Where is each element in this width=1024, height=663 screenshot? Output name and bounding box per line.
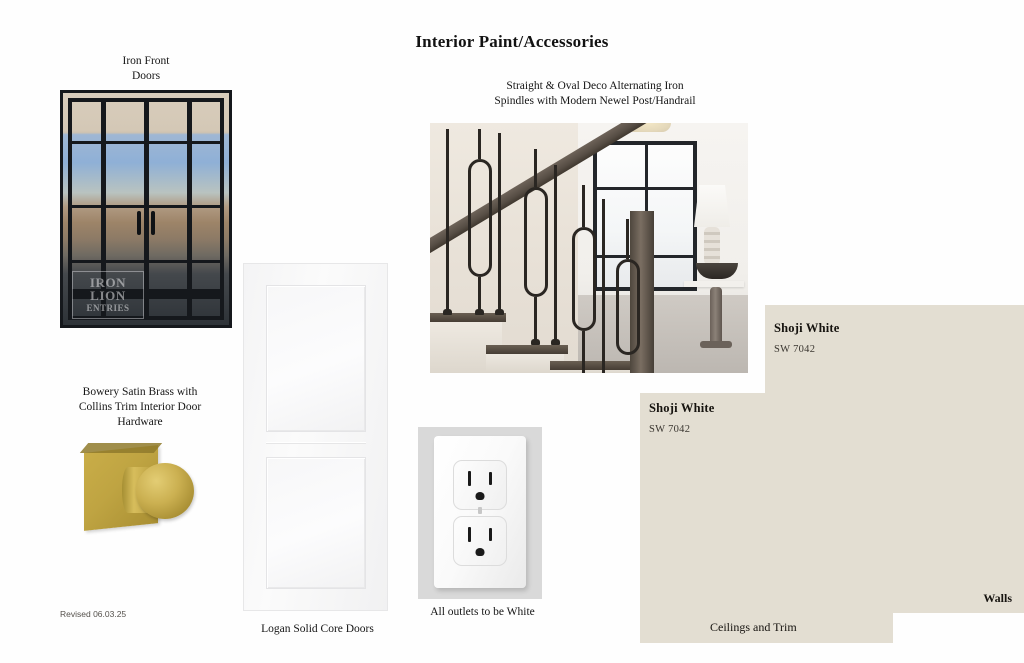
door-handle-right — [151, 211, 155, 235]
door-rail-top — [72, 141, 220, 144]
iron-front-doors-photo: IRON LION ENTRIES — [60, 90, 232, 328]
oval-deco-spindle — [524, 187, 548, 297]
outlet-slot-neutral — [468, 527, 471, 542]
logan-door-photo — [243, 263, 388, 611]
stair-tread-3 — [550, 361, 634, 370]
outlet-ground-pin — [476, 492, 485, 500]
walls-usage-label: Walls — [983, 591, 1012, 606]
receptacle-upper — [453, 460, 507, 510]
door-handle-left — [137, 211, 141, 235]
spindle-shoe — [551, 339, 560, 345]
console-table-pedestal — [710, 287, 722, 345]
door-hardware-photo — [78, 437, 202, 549]
page-title: Interior Paint/Accessories — [0, 32, 1024, 52]
spindle-shoe — [531, 339, 540, 345]
watermark-line-2: LION — [90, 288, 126, 303]
rosette-bevel — [80, 443, 162, 453]
watermark-line-3: ENTRIES — [73, 302, 143, 315]
spindle-shoe — [495, 309, 504, 315]
oval-spindle-lower-stem — [582, 331, 585, 373]
straight-spindle — [554, 165, 557, 343]
outlet-center-screw — [478, 507, 482, 514]
brass-knob — [136, 463, 194, 519]
table-lamp-shade — [694, 185, 730, 227]
oval-deco-spindle — [572, 227, 596, 331]
spindle-shoe — [475, 309, 484, 315]
walls-paint-code: SW 7042 — [774, 344, 815, 355]
stair-tread-2 — [486, 345, 568, 354]
receptacle-lower — [453, 516, 507, 566]
iron-doors-caption: Iron Front Doors — [60, 54, 232, 84]
oval-spindle-upper-stem — [478, 129, 481, 159]
revision-note: Revised 06.03.25 — [60, 609, 126, 619]
straight-spindle — [498, 133, 501, 315]
oval-spindle-lower-stem — [478, 277, 481, 311]
table-lamp-base — [704, 227, 720, 265]
oval-deco-spindle — [468, 159, 492, 277]
door-panel-top — [266, 285, 366, 432]
outlet-ground-pin — [476, 548, 485, 556]
ceilings-paint-code: SW 7042 — [649, 424, 690, 435]
door-hardware-caption: Bowery Satin Brass with Collins Trim Int… — [55, 385, 225, 430]
straight-spindle — [446, 129, 449, 315]
console-table-foot — [700, 341, 732, 348]
door-rail-mid — [72, 205, 220, 208]
paint-swatch-ceilings-trim: Shoji White SW 7042 Ceilings and Trim — [640, 393, 893, 643]
oval-spindle-upper-stem — [626, 219, 629, 259]
door-center-stile — [144, 102, 149, 316]
logan-door-caption: Logan Solid Core Doors — [235, 622, 400, 637]
stair-railing-caption: Straight & Oval Deco Alternating Iron Sp… — [480, 79, 710, 109]
outlet-slot-hot — [489, 528, 492, 541]
electrical-outlet-photo — [418, 427, 542, 599]
spindle-shoe — [443, 309, 452, 315]
oval-deco-spindle — [616, 259, 640, 355]
iron-lion-watermark: IRON LION ENTRIES — [72, 271, 144, 319]
door-rail-lower — [72, 260, 220, 263]
outlet-slot-hot — [489, 472, 492, 485]
stair-railing-photo — [430, 123, 748, 373]
door-middle-rail — [266, 442, 366, 443]
design-board: Interior Paint/Accessories Iron Front Do… — [0, 0, 1024, 663]
outlet-caption: All outlets to be White — [400, 605, 565, 620]
door-panel-bottom — [266, 457, 366, 589]
straight-spindle — [602, 199, 605, 373]
door-mullion-right — [187, 102, 192, 316]
outlet-slot-neutral — [468, 471, 471, 486]
oval-spindle-lower-stem — [534, 297, 537, 341]
walls-paint-name: Shoji White — [774, 321, 840, 336]
window-mullion-horizontal — [597, 187, 693, 190]
ceilings-paint-name: Shoji White — [649, 401, 715, 416]
outlet-cover-plate — [434, 436, 526, 588]
oval-spindle-upper-stem — [534, 149, 537, 187]
ceilings-usage-label: Ceilings and Trim — [710, 620, 797, 635]
oval-spindle-upper-stem — [582, 185, 585, 227]
